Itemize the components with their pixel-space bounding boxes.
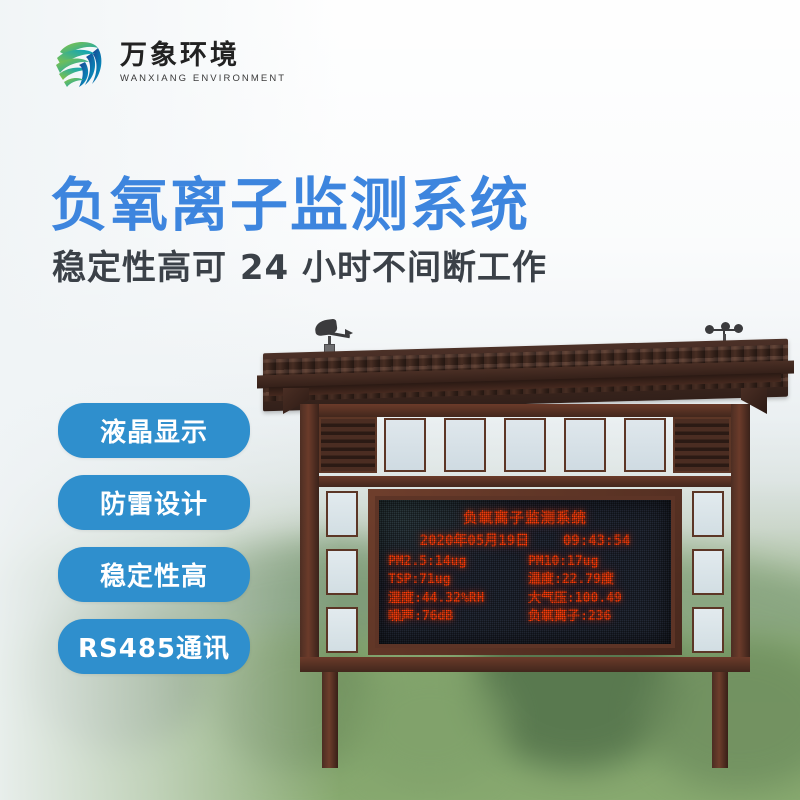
- led-metric-tsp: TSP:71ug: [388, 571, 522, 589]
- led-title: 负氧离子监测系统: [388, 507, 662, 528]
- lattice-panel-right: [685, 487, 731, 657]
- led-metric-temperature: 温度:22.79度: [522, 571, 662, 589]
- brand-name-cn: 万象环境: [120, 42, 286, 69]
- brand-logo: 万象环境 WANXIANG ENVIRONMENT: [48, 32, 286, 94]
- feature-pill-rs485[interactable]: RS485通讯: [58, 619, 250, 674]
- page-subtitle: 稳定性高可 24 小时不间断工作: [52, 240, 547, 289]
- window-opening: [444, 418, 486, 472]
- cabinet-post-right: [731, 404, 750, 672]
- led-datetime: 2020年05月19日 09:43:54: [388, 530, 662, 550]
- led-row-humidity-pressure: 湿度:44.32%RH 大气压:100.49: [388, 590, 662, 608]
- page-title: 负氧离子监测系统: [50, 158, 530, 242]
- wind-vane-sensor-icon: [315, 318, 351, 352]
- lattice-panel-left: [319, 487, 365, 657]
- window-opening: [564, 418, 606, 472]
- window-opening: [624, 418, 666, 472]
- led-time: 09:43:54: [563, 533, 630, 549]
- led-metric-negative-ion: 负氧离子:236: [522, 608, 662, 626]
- led-display[interactable]: 负氧离子监测系统 2020年05月19日 09:43:54 PM2.5:14ug…: [379, 500, 671, 644]
- window-opening: [504, 418, 546, 472]
- led-date: 2020年05月19日: [420, 533, 529, 549]
- station-legs: [300, 672, 750, 768]
- feature-pill-list: 液晶显示 防雷设计 稳定性高 RS485通讯: [58, 403, 250, 674]
- station-cabinet: 负氧离子监测系统 2020年05月19日 09:43:54 PM2.5:14ug…: [300, 404, 750, 672]
- louver-panel-left: [319, 417, 377, 473]
- support-leg-left: [322, 672, 338, 768]
- product-poster: 万象环境 WANXIANG ENVIRONMENT 负氧离子监测系统 稳定性高可…: [0, 0, 800, 800]
- led-metric-pressure: 大气压:100.49: [522, 590, 662, 608]
- led-screen-frame: 负氧离子监测系统 2020年05月19日 09:43:54 PM2.5:14ug…: [368, 489, 682, 655]
- led-metric-pm10: PM10:17ug: [522, 553, 662, 571]
- led-metric-humidity: 湿度:44.32%RH: [388, 590, 522, 608]
- support-leg-right: [712, 672, 728, 768]
- led-metric-noise: 噪声:76dB: [388, 608, 522, 626]
- led-metric-rows: PM2.5:14ug PM10:17ug TSP:71ug 温度:22.79度 …: [388, 553, 662, 627]
- cabinet-post-left: [300, 404, 319, 672]
- led-metric-pm25: PM2.5:14ug: [388, 553, 522, 571]
- led-row-pm: PM2.5:14ug PM10:17ug: [388, 553, 662, 571]
- louver-panel-right: [673, 417, 731, 473]
- window-opening: [384, 418, 426, 472]
- monitoring-station: 负氧离子监测系统 2020年05月19日 09:43:54 PM2.5:14ug…: [255, 318, 795, 768]
- led-row-noise-ion: 噪声:76dB 负氧离子:236: [388, 608, 662, 626]
- led-row-tsp-temp: TSP:71ug 温度:22.79度: [388, 571, 662, 589]
- feature-pill-stability[interactable]: 稳定性高: [58, 547, 250, 602]
- upper-window-band: [319, 415, 731, 477]
- feature-pill-lcd[interactable]: 液晶显示: [58, 403, 250, 458]
- feature-pill-lightning-protection[interactable]: 防雷设计: [58, 475, 250, 530]
- brand-name-en: WANXIANG ENVIRONMENT: [120, 74, 286, 84]
- globe-swirl-logo-icon: [48, 32, 110, 94]
